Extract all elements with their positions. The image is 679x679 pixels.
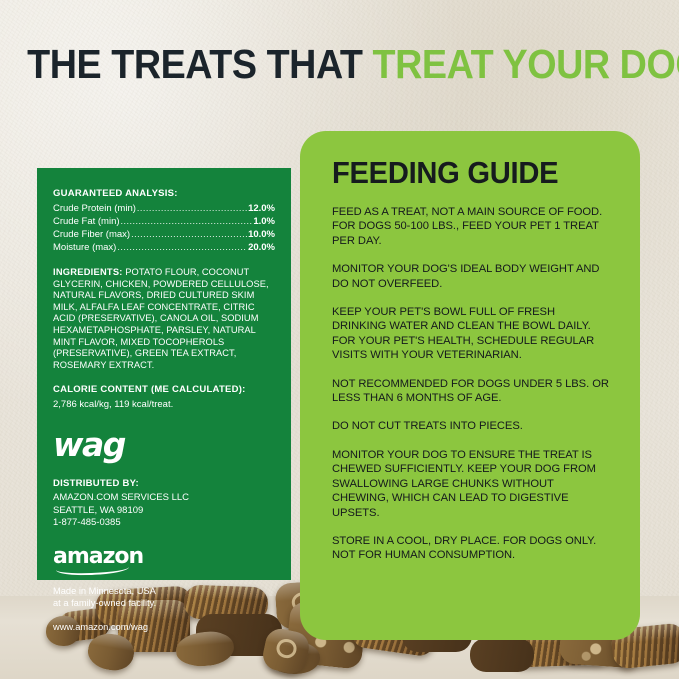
treat-piece [470,638,534,672]
distributed-by-section: DISTRIBUTED BY: AMAZON.COM SERVICES LLC … [53,478,275,530]
ingredients-section: INGREDIENTS: POTATO FLOUR, COCONUT GLYCE… [53,267,275,371]
leader-dots: ........................................… [131,228,247,241]
feeding-guide-panel: FEEDING GUIDE FEED AS A TREAT, NOT A MAI… [300,131,640,640]
feeding-guide-paragraph: DO NOT CUT TREATS INTO PIECES. [332,419,612,433]
website-url: www.amazon.com/wag [53,622,275,632]
distributed-by-title: DISTRIBUTED BY: [53,478,275,489]
product-info-panel: GUARANTEED ANALYSIS: Crude Protein (min)… [37,168,291,580]
guaranteed-analysis-title: GUARANTEED ANALYSIS: [53,188,275,199]
analysis-label: Crude Protein (min) [53,202,136,215]
amazon-logo: amazon [53,546,143,576]
analysis-value: 1.0% [253,215,275,228]
analysis-value: 10.0% [248,228,275,241]
analysis-value: 12.0% [248,202,275,215]
wag-brand-logo: wag [53,428,275,461]
analysis-row: Moisture (max) .........................… [53,241,275,254]
feeding-guide-paragraph: NOT RECOMMENDED FOR DOGS UNDER 5 LBS. OR… [332,377,612,406]
headline-part-dark: THE TREATS THAT [27,41,362,87]
analysis-label: Crude Fat (min) [53,215,120,228]
calorie-content-title: CALORIE CONTENT (ME CALCULATED): [53,384,275,395]
made-in-line-2: at a family-owned facility. [53,597,275,609]
distributor-line-1: AMAZON.COM SERVICES LLC [53,492,275,505]
amazon-smile-arrow-icon [56,561,129,577]
made-in-section: Made in Minnesota, USA at a family-owned… [53,585,275,609]
leader-dots: ........................................… [121,215,253,228]
feeding-guide-paragraph: MONITOR YOUR DOG TO ENSURE THE TREAT IS … [332,448,612,520]
analysis-row: Crude Fat (min) ........................… [53,215,275,228]
feeding-guide-title: FEEDING GUIDE [332,157,595,188]
ingredients-body: POTATO FLOUR, COCONUT GLYCERIN, CHICKEN,… [53,267,269,370]
feeding-guide-paragraph: FEED AS A TREAT, NOT A MAIN SOURCE OF FO… [332,205,612,248]
distributor-line-2: SEATTLE, WA 98109 [53,505,275,518]
ingredients-title: INGREDIENTS: [53,267,123,277]
headline-part-green: TREAT YOUR DOG RIGHT [373,41,679,87]
feeding-guide-paragraph: MONITOR YOUR DOG'S IDEAL BODY WEIGHT AND… [332,262,612,291]
page-headline: THE TREATS THAT TREAT YOUR DOG RIGHT [27,44,652,85]
leader-dots: ........................................… [137,202,247,215]
made-in-line-1: Made in Minnesota, USA [53,585,275,597]
analysis-label: Crude Fiber (max) [53,228,130,241]
leader-dots: ........................................… [117,241,247,254]
guaranteed-analysis-section: GUARANTEED ANALYSIS: Crude Protein (min)… [53,188,275,254]
analysis-value: 20.0% [248,241,275,254]
feeding-guide-paragraph: STORE IN A COOL, DRY PLACE. FOR DOGS ONL… [332,534,612,563]
packaging-panel-image: THE TREATS THAT TREAT YOUR DOG RIGHT GUA… [0,0,679,679]
analysis-row: Crude Fiber (max) ......................… [53,228,275,241]
analysis-row: Crude Protein (min) ....................… [53,202,275,215]
feeding-guide-paragraph: KEEP YOUR PET'S BOWL FULL OF FRESH DRINK… [332,305,612,363]
distributor-phone: 1-877-485-0385 [53,517,275,530]
calorie-content-section: CALORIE CONTENT (ME CALCULATED): 2,786 k… [53,384,275,411]
analysis-label: Moisture (max) [53,241,116,254]
calorie-content-body: 2,786 kcal/kg, 119 kcal/treat. [53,398,275,411]
